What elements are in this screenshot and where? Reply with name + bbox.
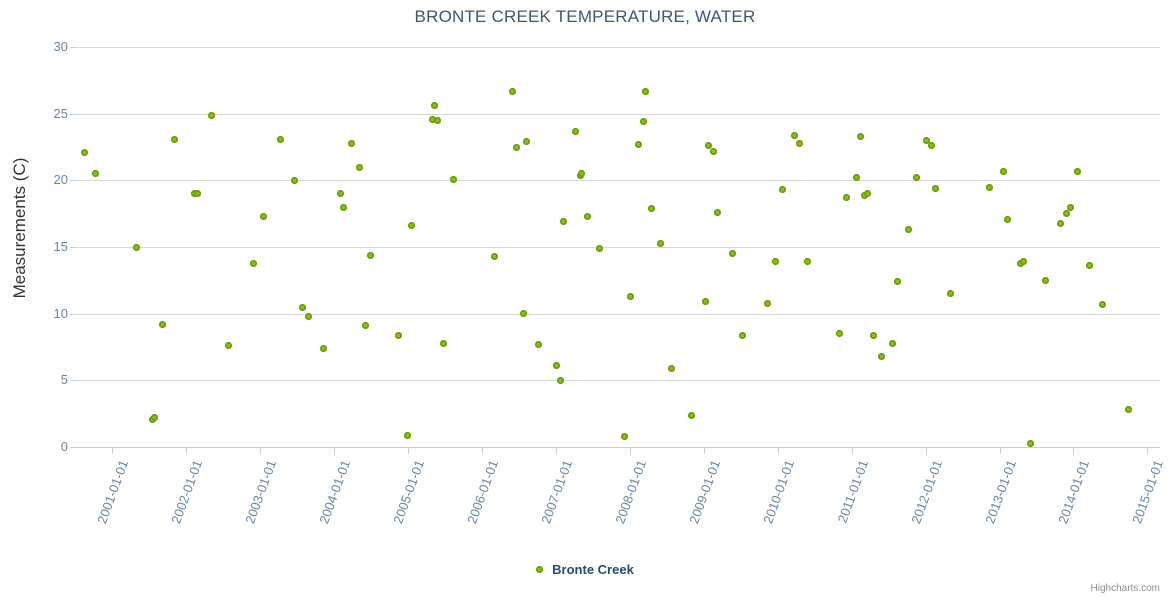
legend-item-label: Bronte Creek [552,562,634,577]
x-tick-mark [630,448,631,454]
x-tick-mark [112,448,113,454]
data-point[interactable] [337,190,344,197]
chart-title: BRONTE CREEK TEMPERATURE, WATER [0,7,1170,27]
data-point[interactable] [434,117,441,124]
y-tick-label: 10 [12,307,68,320]
x-tick-label: 2004-01-01 [308,458,353,548]
data-point[interactable] [836,330,843,337]
x-tick-mark [334,448,335,454]
data-point[interactable] [81,149,88,156]
y-gridline [75,247,1160,248]
data-point[interactable] [648,205,655,212]
data-point[interactable] [1057,220,1064,227]
x-tick-mark [1073,448,1074,454]
data-point[interactable] [932,185,939,192]
x-tick-label: 2015-01-01 [1122,458,1167,548]
data-point[interactable] [553,362,560,369]
y-gridline [75,380,1160,381]
x-tick-mark [1147,448,1148,454]
x-tick-mark [926,448,927,454]
y-tick-mark [70,247,75,248]
y-tick-mark [70,180,75,181]
x-tick-mark [778,448,779,454]
data-point[interactable] [431,102,438,109]
legend-marker-icon [536,566,543,573]
data-point[interactable] [621,433,628,440]
data-point[interactable] [299,304,306,311]
data-point[interactable] [853,174,860,181]
x-tick-label: 2011-01-01 [826,458,871,548]
data-point[interactable] [1086,262,1093,269]
data-point[interactable] [440,340,447,347]
x-tick-label: 2013-01-01 [974,458,1019,548]
x-tick-label: 2012-01-01 [900,458,945,548]
x-tick-mark [260,448,261,454]
data-point[interactable] [657,240,664,247]
chart-legend: Bronte Creek [0,562,1170,577]
data-point[interactable] [1063,210,1070,217]
data-point[interactable] [513,144,520,151]
data-point[interactable] [1074,168,1081,175]
x-tick-mark [186,448,187,454]
data-point[interactable] [523,138,530,145]
data-point[interactable] [804,258,811,265]
data-point[interactable] [772,258,779,265]
y-tick-label: 30 [12,40,68,53]
data-point[interactable] [894,278,901,285]
data-point[interactable] [642,88,649,95]
data-point[interactable] [596,245,603,252]
data-point[interactable] [843,194,850,201]
y-tick-label: 20 [12,173,68,186]
y-gridline [75,314,1160,315]
data-point[interactable] [367,252,374,259]
y-tick-mark [70,47,75,48]
data-point[interactable] [208,112,215,119]
data-point[interactable] [92,170,99,177]
credits-label[interactable]: Highcharts.com [1091,583,1160,594]
data-point[interactable] [714,209,721,216]
data-point[interactable] [668,365,675,372]
y-tick-mark [70,114,75,115]
data-point[interactable] [404,432,411,439]
data-point[interactable] [627,293,634,300]
data-point[interactable] [491,253,498,260]
data-point[interactable] [560,218,567,225]
data-point[interactable] [340,204,347,211]
data-point[interactable] [151,414,158,421]
x-tick-label: 2005-01-01 [382,458,427,548]
data-point[interactable] [1042,277,1049,284]
data-point[interactable] [356,164,363,171]
x-tick-label: 2003-01-01 [234,458,279,548]
data-point[interactable] [584,213,591,220]
plot-area [75,47,1160,447]
data-point[interactable] [739,332,746,339]
data-point[interactable] [348,140,355,147]
y-tick-label: 15 [12,240,68,253]
data-point[interactable] [764,300,771,307]
data-point[interactable] [520,310,527,317]
x-tick-label: 2014-01-01 [1048,458,1093,548]
data-point[interactable] [362,322,369,329]
data-point[interactable] [905,226,912,233]
y-axis-labels: 051015202530 [0,0,68,600]
data-point[interactable] [796,140,803,147]
data-point[interactable] [702,298,709,305]
x-tick-label: 2002-01-01 [160,458,205,548]
data-point[interactable] [557,377,564,384]
data-point[interactable] [779,186,786,193]
data-point[interactable] [947,290,954,297]
data-point[interactable] [277,136,284,143]
data-point[interactable] [320,345,327,352]
data-point[interactable] [291,177,298,184]
data-point[interactable] [1027,440,1034,447]
data-point[interactable] [1125,406,1132,413]
data-point[interactable] [729,250,736,257]
data-point[interactable] [1099,301,1106,308]
data-point[interactable] [640,118,647,125]
y-tick-label: 5 [12,373,68,386]
data-point[interactable] [572,128,579,135]
data-point[interactable] [1020,258,1027,265]
data-point[interactable] [509,88,516,95]
data-point[interactable] [305,313,312,320]
x-tick-mark [482,448,483,454]
y-gridline [75,47,1160,48]
data-point[interactable] [688,412,695,419]
data-point[interactable] [171,136,178,143]
data-point[interactable] [864,190,871,197]
data-point[interactable] [133,244,140,251]
data-point[interactable] [250,260,257,267]
y-tick-label: 25 [12,107,68,120]
y-tick-mark [70,380,75,381]
data-point[interactable] [1067,204,1074,211]
data-point[interactable] [194,190,201,197]
data-point[interactable] [395,332,402,339]
data-point[interactable] [1000,168,1007,175]
data-point[interactable] [928,142,935,149]
x-axis-line [75,447,1160,448]
data-point[interactable] [710,148,717,155]
data-point[interactable] [986,184,993,191]
x-tick-label: 2008-01-01 [604,458,649,548]
data-point[interactable] [878,353,885,360]
data-point[interactable] [791,132,798,139]
x-tick-label: 2001-01-01 [86,458,131,548]
x-tick-label: 2009-01-01 [678,458,723,548]
data-point[interactable] [870,332,877,339]
data-point[interactable] [225,342,232,349]
x-tick-label: 2010-01-01 [752,458,797,548]
data-point[interactable] [857,133,864,140]
data-point[interactable] [159,321,166,328]
data-point[interactable] [889,340,896,347]
x-tick-mark [704,448,705,454]
y-tick-mark [70,314,75,315]
data-point[interactable] [535,341,542,348]
x-tick-mark [408,448,409,454]
data-point[interactable] [1004,216,1011,223]
x-tick-label: 2006-01-01 [456,458,501,548]
y-tick-label: 0 [12,440,68,453]
data-point[interactable] [635,141,642,148]
highcharts-scatter-chart: BRONTE CREEK TEMPERATURE, WATER Measurem… [0,0,1170,600]
x-tick-mark [1000,448,1001,454]
data-point[interactable] [450,176,457,183]
y-gridline [75,180,1160,181]
x-tick-mark [852,448,853,454]
x-tick-label: 2007-01-01 [530,458,575,548]
x-tick-mark [556,448,557,454]
y-gridline [75,114,1160,115]
legend-item-bronte-creek[interactable]: Bronte Creek [536,562,634,577]
data-point[interactable] [408,222,415,229]
y-tick-mark [70,447,75,448]
data-point[interactable] [578,170,585,177]
data-point[interactable] [260,213,267,220]
